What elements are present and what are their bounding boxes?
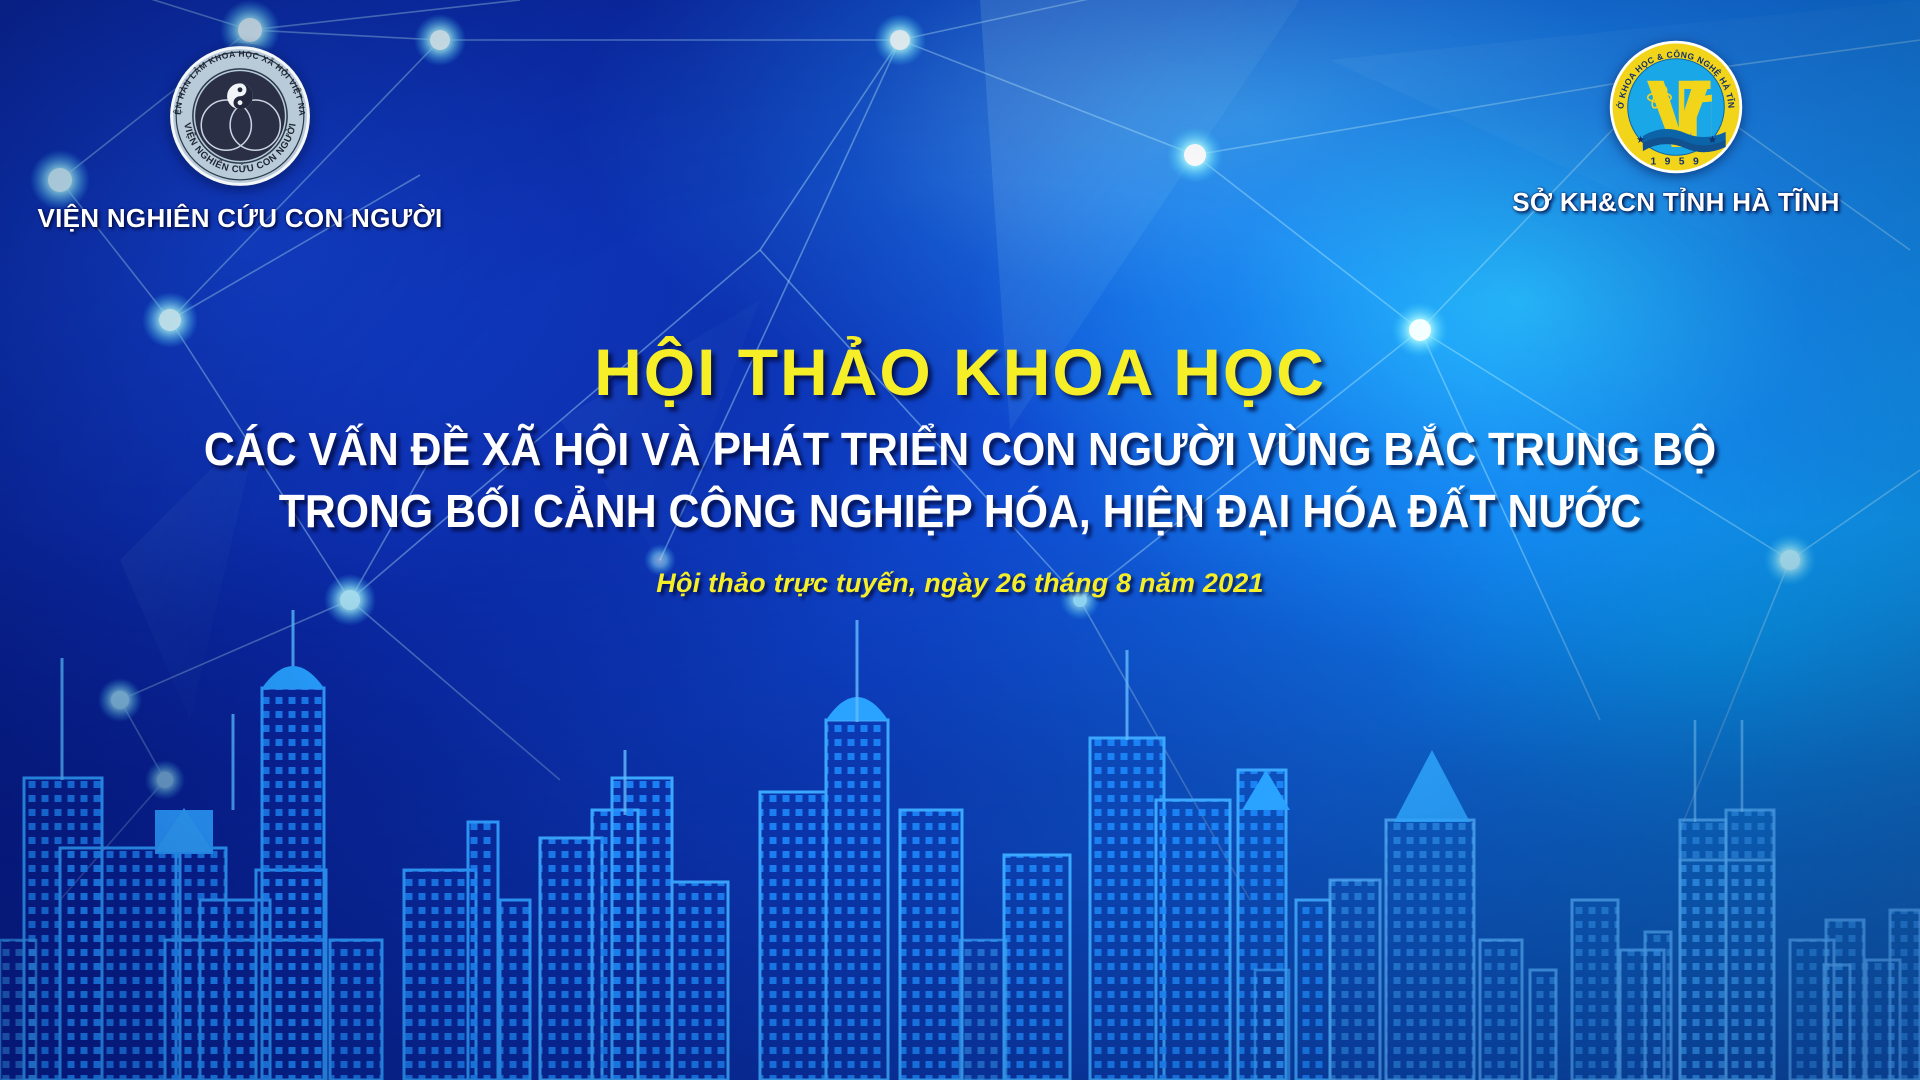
event-subtitle-line-1: CÁC VẤN ĐỀ XÃ HỘI VÀ PHÁT TRIỂN CON NGƯỜ…	[67, 420, 1853, 480]
organization-left-label: VIỆN NGHIÊN CỨU CON NGƯỜI	[10, 203, 470, 234]
svg-text:★: ★	[1636, 135, 1645, 146]
event-date-line: Hội thảo trực tuyến, ngày 26 tháng 8 năm…	[0, 568, 1920, 599]
event-title: HỘI THẢO KHOA HỌC	[0, 338, 1920, 408]
department-seal-icon: ★ ★ SỞ KHOA HỌC & CÔNG NGHỆ HÀ TĨNH 1 9 …	[1607, 38, 1745, 181]
organization-right-label: SỞ KH&CN TỈNH HÀ TĨNH	[1446, 187, 1906, 218]
organization-right: ★ ★ SỞ KHOA HỌC & CÔNG NGHỆ HÀ TĨNH 1 9 …	[1446, 38, 1906, 218]
svg-text:1 9 5 9: 1 9 5 9	[1651, 156, 1702, 167]
title-block: HỘI THẢO KHOA HỌC CÁC VẤN ĐỀ XÃ HỘI VÀ P…	[0, 338, 1920, 599]
conference-banner: VIỆN HÀN LÂM KHOA HỌC XÃ HỘI VIỆT NAM VI…	[0, 0, 1920, 1080]
event-subtitle-line-2: TRONG BỐI CẢNH CÔNG NGHIỆP HÓA, HIỆN ĐẠI…	[67, 482, 1853, 542]
svg-text:★: ★	[1708, 135, 1717, 146]
institute-seal-icon: VIỆN HÀN LÂM KHOA HỌC XÃ HỘI VIỆT NAM VI…	[164, 40, 316, 197]
organization-left: VIỆN HÀN LÂM KHOA HỌC XÃ HỘI VIỆT NAM VI…	[10, 40, 470, 234]
